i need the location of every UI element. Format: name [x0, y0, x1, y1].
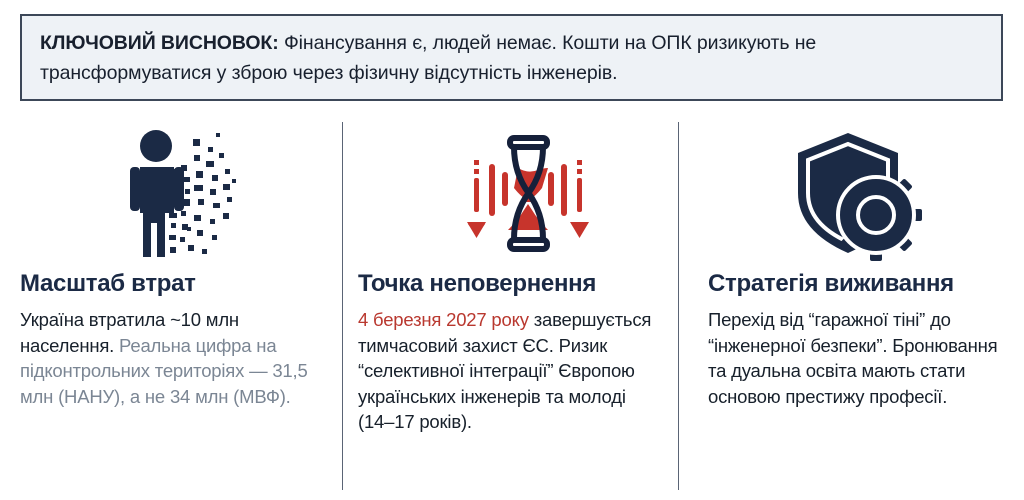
icon-container-2 [358, 118, 663, 270]
dissolving-person-icon [124, 127, 242, 261]
card-title-2: Точка неповернення [358, 270, 663, 298]
card-title-1: Масштаб втрат [20, 270, 325, 298]
icon-container-3 [708, 118, 1008, 270]
card-scale-of-losses: Масштаб втрат Україна втратила ~10 млн н… [20, 118, 325, 409]
hourglass-icon [458, 128, 598, 260]
card-survival-strategy: Стратегія виживання Перехід від “гаражно… [708, 118, 1008, 409]
icon-container-1 [20, 118, 325, 270]
shield-gear-icon [790, 127, 922, 261]
card-body-1: Україна втратила ~10 млн населення. Реал… [20, 307, 325, 409]
card-point-of-no-return: Точка неповернення 4 березня 2027 року з… [358, 118, 663, 435]
column-divider-2 [678, 122, 679, 490]
card-body-3: Перехід від “гаражної тіні” до “інженерн… [708, 307, 1008, 409]
key-finding-callout: КЛЮЧОВИЙ ВИСНОВОК: Фінансування є, людей… [20, 14, 1003, 101]
key-finding-lead: КЛЮЧОВИЙ ВИСНОВОК: [40, 32, 279, 54]
infographic-page: КЛЮЧОВИЙ ВИСНОВОК: Фінансування є, людей… [0, 0, 1024, 500]
key-finding-text: КЛЮЧОВИЙ ВИСНОВОК: Фінансування є, людей… [22, 28, 1001, 88]
column-divider-1 [342, 122, 343, 490]
card-body-2-accent: 4 березня 2027 року [358, 309, 529, 330]
card-body-2: 4 березня 2027 року завершується тимчасо… [358, 307, 663, 435]
card-title-3: Стратегія виживання [708, 270, 1008, 298]
